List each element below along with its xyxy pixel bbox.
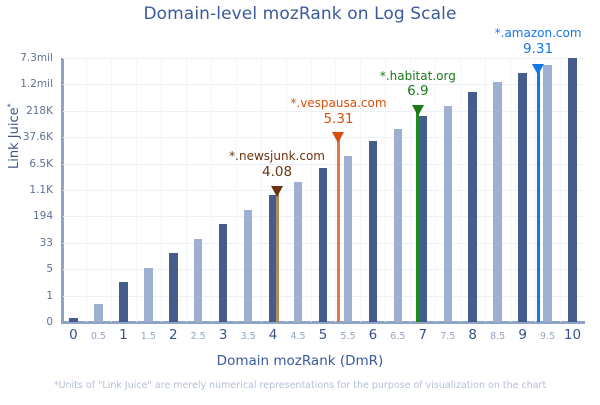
x-axis-tick-label: 3.5 bbox=[241, 331, 256, 342]
gridline-horizontal bbox=[63, 137, 585, 138]
gridline-vertical bbox=[111, 58, 112, 322]
x-axis-tick-label: 8 bbox=[468, 327, 477, 343]
x-axis-tick-label: 6 bbox=[369, 327, 378, 343]
bar-7 bbox=[419, 116, 428, 322]
bar-9.5 bbox=[543, 65, 552, 322]
x-axis-tick-label: 5.5 bbox=[340, 331, 355, 342]
gridline-vertical bbox=[211, 58, 212, 322]
gridline-horizontal bbox=[63, 58, 585, 59]
x-axis-tick-label: 4 bbox=[269, 327, 278, 343]
chart-title: Domain-level mozRank on Log Scale bbox=[0, 4, 600, 24]
y-axis-tick-label: 194 bbox=[0, 210, 53, 222]
annotation--newsjunk-com: *.newsjunk.com4.08 bbox=[229, 149, 325, 180]
x-axis-tick-label: 2.5 bbox=[191, 331, 206, 342]
bar-0 bbox=[69, 318, 78, 322]
y-axis-tick-label: 33 bbox=[0, 237, 53, 249]
bar-6.5 bbox=[394, 129, 403, 322]
bar-2 bbox=[169, 253, 178, 322]
x-axis-tick-label: 9.5 bbox=[540, 331, 555, 342]
annotation-domain: *.habitat.org bbox=[380, 69, 456, 84]
x-axis-tick-label: 1 bbox=[119, 327, 128, 343]
bar-8.5 bbox=[493, 82, 502, 322]
bar-2.5 bbox=[194, 239, 203, 322]
annotation-value: 6.9 bbox=[380, 83, 456, 99]
gridline-vertical bbox=[560, 58, 561, 322]
x-axis-title: Domain mozRank (DmR) bbox=[0, 353, 600, 369]
annotation-domain: *.amazon.com bbox=[495, 26, 582, 41]
annotation-value: 4.08 bbox=[229, 164, 325, 180]
annotation--amazon-com: *.amazon.com9.31 bbox=[495, 26, 582, 57]
bar-3 bbox=[219, 224, 228, 322]
bar-4.5 bbox=[294, 182, 303, 322]
y-axis-title: Link Juice* bbox=[6, 76, 22, 196]
chart-footnote: *Units of "Link Juice" are merely numeri… bbox=[0, 380, 600, 391]
gridline-vertical bbox=[236, 58, 237, 322]
y-axis-title-asterisk: * bbox=[6, 103, 15, 107]
bar-10 bbox=[568, 58, 577, 322]
y-axis-tick-label: 5 bbox=[0, 263, 53, 275]
x-axis-tick-label: 3 bbox=[219, 327, 228, 343]
gridline-vertical bbox=[460, 58, 461, 322]
x-axis-tick-label: 0 bbox=[69, 327, 78, 343]
x-axis-tick-label: 8.5 bbox=[490, 331, 505, 342]
x-axis-tick-label: 7 bbox=[419, 327, 428, 343]
bar-5 bbox=[319, 168, 328, 322]
bar-7.5 bbox=[444, 106, 453, 322]
gridline-vertical bbox=[510, 58, 511, 322]
marker-stem bbox=[416, 106, 419, 322]
x-axis-tick-label: 2 bbox=[169, 327, 178, 343]
annotation-value: 9.31 bbox=[495, 41, 582, 57]
gridline-vertical bbox=[186, 58, 187, 322]
bar-0.5 bbox=[94, 304, 103, 322]
bar-9 bbox=[518, 73, 527, 322]
x-axis-tick-label: 9 bbox=[518, 327, 527, 343]
y-axis-tick-label: 1 bbox=[0, 290, 53, 302]
annotation-value: 5.31 bbox=[290, 111, 386, 127]
gridline-vertical bbox=[86, 58, 87, 322]
x-axis-tick-label: 0.5 bbox=[91, 331, 106, 342]
y-axis-title-text: Link Juice bbox=[7, 107, 22, 169]
bar-8 bbox=[468, 92, 477, 322]
x-axis-tick-label: 10 bbox=[564, 327, 581, 343]
bar-5.5 bbox=[344, 156, 353, 322]
chart-root: Domain-level mozRank on Log Scale 015331… bbox=[0, 0, 600, 405]
annotation--vespausa-com: *.vespausa.com5.31 bbox=[290, 96, 386, 127]
gridline-vertical bbox=[136, 58, 137, 322]
gridline-vertical bbox=[161, 58, 162, 322]
gridline-horizontal bbox=[63, 84, 585, 85]
x-axis-tick-label: 4.5 bbox=[290, 331, 305, 342]
x-axis-tick-label: 1.5 bbox=[141, 331, 156, 342]
x-axis-tick-label: 7.5 bbox=[440, 331, 455, 342]
annotation--habitat-org: *.habitat.org6.9 bbox=[380, 69, 456, 100]
y-axis-tick-label: 7.3mil bbox=[0, 52, 53, 64]
marker-arrowhead-icon bbox=[532, 64, 544, 75]
bar-3.5 bbox=[244, 210, 253, 322]
bar-1 bbox=[119, 282, 128, 322]
gridline-vertical bbox=[261, 58, 262, 322]
x-axis-tick-label: 5 bbox=[319, 327, 328, 343]
marker-arrowhead-icon bbox=[412, 105, 424, 116]
bar-6 bbox=[369, 141, 378, 322]
bar-1.5 bbox=[144, 268, 153, 322]
x-axis-tick-labels: 00.511.522.533.544.555.566.577.588.599.5… bbox=[61, 327, 585, 349]
annotation-domain: *.newsjunk.com bbox=[229, 149, 325, 164]
marker-stem bbox=[537, 65, 540, 322]
gridline-vertical bbox=[485, 58, 486, 322]
marker-stem bbox=[337, 133, 340, 322]
marker-stem bbox=[276, 187, 279, 322]
marker-arrowhead-icon bbox=[332, 132, 344, 143]
marker-arrowhead-icon bbox=[271, 186, 283, 197]
y-axis-tick-label: 0 bbox=[0, 316, 53, 328]
x-axis-tick-label: 6.5 bbox=[390, 331, 405, 342]
annotation-domain: *.vespausa.com bbox=[290, 96, 386, 111]
gridline-vertical bbox=[286, 58, 287, 322]
